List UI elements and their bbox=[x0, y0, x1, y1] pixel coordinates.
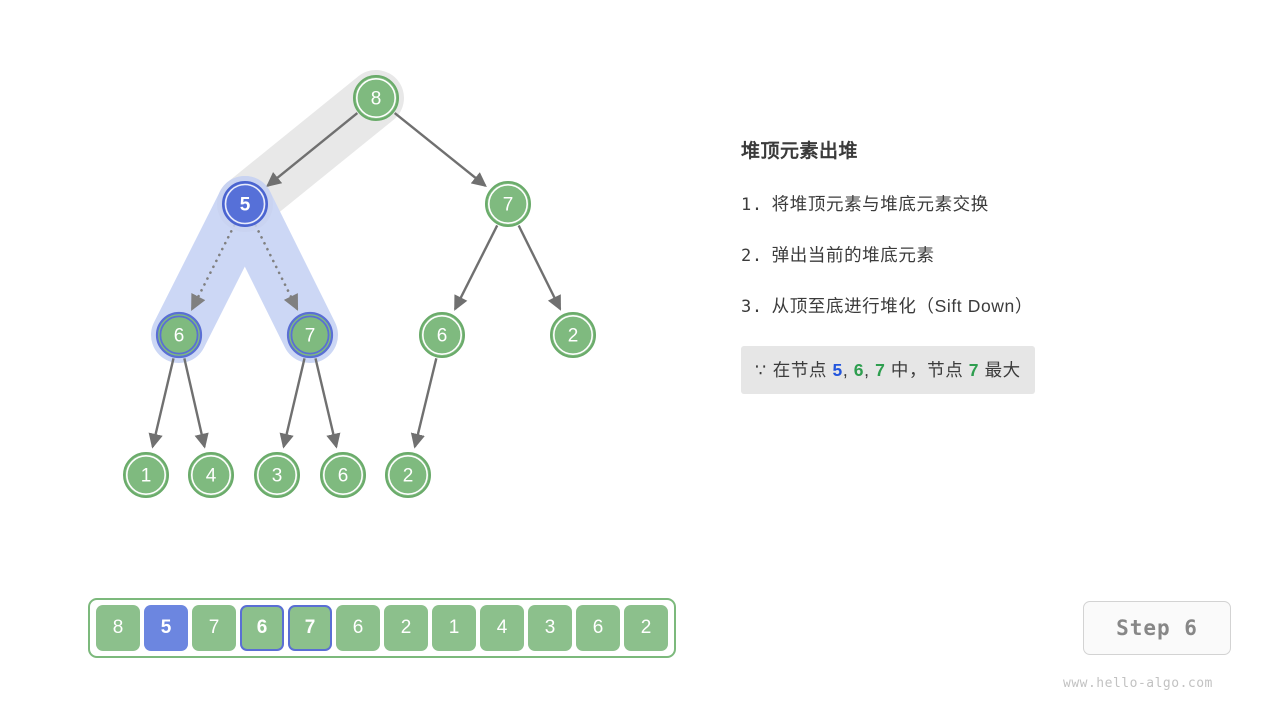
highlight-bands bbox=[179, 98, 376, 335]
node-label: 7 bbox=[305, 326, 316, 347]
node-label: 2 bbox=[403, 466, 414, 487]
node-label: 1 bbox=[141, 466, 152, 487]
array-cell-6[interactable]: 2 bbox=[384, 605, 428, 651]
tree-node-2[interactable]: 2 bbox=[551, 313, 595, 357]
tree-edge-8 bbox=[284, 358, 305, 446]
conclusion-node-1: 6 bbox=[854, 360, 864, 380]
node-label: 6 bbox=[174, 326, 185, 347]
node-label: 3 bbox=[272, 466, 283, 487]
tree-node-7[interactable]: 7 bbox=[288, 313, 332, 357]
tree-node-7[interactable]: 7 bbox=[486, 182, 530, 226]
status-badge: Step 6 bbox=[1083, 601, 1231, 655]
conclusion-node-0: 5 bbox=[833, 360, 843, 380]
tree-node-6[interactable]: 6 bbox=[321, 453, 365, 497]
node-label: 2 bbox=[568, 326, 579, 347]
array-cell-9[interactable]: 3 bbox=[528, 605, 572, 651]
conclusion-middle: 中，节点 bbox=[891, 360, 963, 380]
array-cell-11[interactable]: 2 bbox=[624, 605, 668, 651]
step-number: 2. bbox=[741, 246, 763, 266]
step-number: 1. bbox=[741, 195, 763, 215]
tree-edge-1 bbox=[395, 113, 486, 186]
tree-node-1[interactable]: 1 bbox=[124, 453, 168, 497]
info-panel: 堆顶元素出堆 1.将堆顶元素与堆底元素交换2.弹出当前的堆底元素3.从顶至底进行… bbox=[741, 136, 1211, 394]
array-cell-5[interactable]: 6 bbox=[336, 605, 380, 651]
tree-node-5[interactable]: 5 bbox=[217, 176, 273, 232]
tree-edge-6 bbox=[153, 358, 174, 446]
conclusion-max-node: 7 bbox=[969, 360, 979, 380]
node-label: 6 bbox=[437, 326, 448, 347]
node-label: 8 bbox=[371, 89, 382, 110]
step-text: 从顶至底进行堆化（Sift Down） bbox=[772, 293, 1033, 318]
step-text: 将堆顶元素与堆底元素交换 bbox=[772, 191, 989, 216]
tree-edge-9 bbox=[316, 358, 337, 446]
conclusion-box: ∵在节点 5, 6, 7 中，节点 7 最大 bbox=[741, 346, 1035, 394]
tree-edge-5 bbox=[519, 225, 560, 309]
node-label: 7 bbox=[503, 195, 514, 216]
tree-edge-4 bbox=[455, 225, 497, 309]
step-item-1: 1.将堆顶元素与堆底元素交换 bbox=[741, 191, 1211, 216]
page-title: 堆顶元素出堆 bbox=[741, 136, 1211, 163]
tree-edge-10 bbox=[415, 358, 436, 446]
array-cell-7[interactable]: 1 bbox=[432, 605, 476, 651]
array-cell-4[interactable]: 7 bbox=[288, 605, 332, 651]
array-cell-3[interactable]: 6 bbox=[240, 605, 284, 651]
tree-node-6[interactable]: 6 bbox=[157, 313, 201, 357]
step-item-3: 3.从顶至底进行堆化（Sift Down） bbox=[741, 293, 1211, 318]
conclusion-node-2: 7 bbox=[875, 360, 885, 380]
node-label: 6 bbox=[338, 466, 349, 487]
tree-node-3[interactable]: 3 bbox=[255, 453, 299, 497]
array-cell-1[interactable]: 5 bbox=[144, 605, 188, 651]
tree-node-6[interactable]: 6 bbox=[420, 313, 464, 357]
step-item-2: 2.弹出当前的堆底元素 bbox=[741, 242, 1211, 267]
array-cell-8[interactable]: 4 bbox=[480, 605, 524, 651]
conclusion-prefix: 在节点 bbox=[773, 360, 827, 380]
node-label: 4 bbox=[206, 466, 217, 487]
conclusion-suffix: 最大 bbox=[985, 360, 1021, 380]
heap-array: 857676214362 bbox=[88, 598, 676, 658]
array-cell-10[interactable]: 6 bbox=[576, 605, 620, 651]
step-text: 弹出当前的堆底元素 bbox=[772, 242, 935, 267]
tree-node-4[interactable]: 4 bbox=[189, 453, 233, 497]
node-label: 5 bbox=[240, 195, 251, 216]
therefore-icon: ∵ bbox=[755, 361, 767, 381]
array-cell-0[interactable]: 8 bbox=[96, 605, 140, 651]
steps-list: 1.将堆顶元素与堆底元素交换2.弹出当前的堆底元素3.从顶至底进行堆化（Sift… bbox=[741, 191, 1211, 318]
footer-watermark: www.hello-algo.com bbox=[1063, 676, 1213, 691]
tree-node-2[interactable]: 2 bbox=[386, 453, 430, 497]
step-number: 3. bbox=[741, 297, 763, 317]
array-cell-2[interactable]: 7 bbox=[192, 605, 236, 651]
tree-node-8[interactable]: 8 bbox=[354, 76, 398, 120]
tree-edge-7 bbox=[184, 358, 204, 446]
heap-tree-diagram: 857676214362 bbox=[0, 0, 700, 560]
